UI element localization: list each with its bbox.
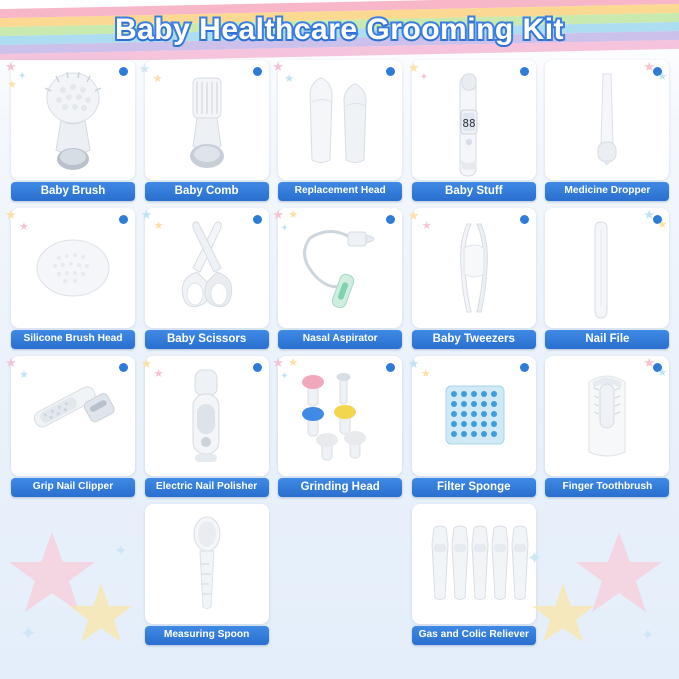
product-card[interactable] (545, 208, 669, 328)
spacer-cell (541, 502, 673, 648)
product-label: Nasal Aspirator (278, 330, 402, 349)
gas-colic-reliever-icon (412, 504, 536, 624)
product-cell[interactable]: Finger Toothbrush ★ ★ (541, 354, 673, 500)
product-row: Grip Nail Clipper ★ ★ Electric Nail Poli… (6, 354, 674, 502)
medicine-dropper-icon (545, 60, 669, 180)
product-card[interactable] (145, 504, 269, 624)
blue-dot-marker (520, 67, 529, 76)
product-cell[interactable]: Replacement Head ★ ★ (274, 58, 406, 204)
product-card[interactable] (145, 60, 269, 180)
baby-tweezers-icon (412, 208, 536, 328)
grinding-head-icon (278, 356, 402, 476)
product-grid: Baby Brush ★ ✦ ★ (6, 58, 674, 650)
product-card[interactable] (145, 208, 269, 328)
product-card[interactable] (278, 356, 402, 476)
product-label: Electric Nail Polisher (145, 478, 269, 497)
product-card[interactable] (412, 356, 536, 476)
product-label: Medicine Dropper (545, 182, 669, 201)
product-label: Nail File (545, 330, 669, 349)
product-label: Finger Toothbrush (545, 478, 669, 497)
product-label: Baby Brush (11, 182, 135, 201)
blue-dot-marker (520, 215, 529, 224)
blue-dot-marker (119, 215, 128, 224)
product-label: Silicone Brush Head (11, 330, 135, 349)
product-label: Filter Sponge (412, 478, 536, 497)
product-cell[interactable]: Silicone Brush Head ★ ★ (7, 206, 139, 352)
blue-dot-marker (253, 215, 262, 224)
product-card[interactable] (412, 504, 536, 624)
product-cell[interactable]: Medicine Dropper ★ ★ (541, 58, 673, 204)
blue-dot-marker (520, 363, 529, 372)
product-row: Baby Brush ★ ✦ ★ (6, 58, 674, 206)
silicone-brush-head-icon (11, 208, 135, 328)
product-cell[interactable]: Filter Sponge ★ ★ (408, 354, 540, 500)
nail-file-icon (545, 208, 669, 328)
measuring-spoon-icon (145, 504, 269, 624)
product-cell[interactable]: Grinding Head ★ ★ ✦ (274, 354, 406, 500)
product-label: Measuring Spoon (145, 626, 269, 645)
product-row: Measuring Spoon (6, 502, 674, 650)
product-cell[interactable]: Gas and Colic Reliever (408, 502, 540, 648)
replacement-head-icon (278, 60, 402, 180)
product-cell[interactable]: 88 Baby Stuff ★ ✦ (408, 58, 540, 204)
electric-nail-polisher-icon (145, 356, 269, 476)
product-label: Gas and Colic Reliever (412, 626, 536, 645)
product-cell[interactable]: Baby Scissors ★ ★ (141, 206, 273, 352)
product-label: Baby Tweezers (412, 330, 536, 349)
baby-comb-icon (145, 60, 269, 180)
product-card[interactable] (545, 356, 669, 476)
blue-dot-marker (119, 363, 128, 372)
product-cell[interactable]: Baby Brush ★ ✦ ★ (7, 58, 139, 204)
product-label: Baby Comb (145, 182, 269, 201)
product-cell[interactable]: Nasal Aspirator ★ ★ ✦ (274, 206, 406, 352)
product-cell[interactable]: Baby Comb ★ ★ (141, 58, 273, 204)
digital-thermometer-icon: 88 (412, 60, 536, 180)
product-cell[interactable]: Baby Tweezers ★ ★ (408, 206, 540, 352)
blue-dot-marker (119, 67, 128, 76)
product-label: Grinding Head (278, 478, 402, 497)
product-label: Replacement Head (278, 182, 402, 201)
grip-nail-clipper-icon (11, 356, 135, 476)
blue-dot-marker (253, 67, 262, 76)
product-cell[interactable]: Electric Nail Polisher ★ ★ (141, 354, 273, 500)
product-card[interactable] (145, 356, 269, 476)
page-title-container: Baby Healthcare Grooming Kit (0, 8, 679, 52)
spacer-cell (274, 502, 406, 648)
baby-scissors-icon (145, 208, 269, 328)
baby-brush-icon (11, 60, 135, 180)
svg-text:88: 88 (462, 117, 475, 130)
blue-dot-marker (253, 363, 262, 372)
product-card[interactable] (545, 60, 669, 180)
product-card[interactable] (278, 208, 402, 328)
product-label: Baby Stuff (412, 182, 536, 201)
product-card[interactable] (11, 208, 135, 328)
product-cell[interactable]: Grip Nail Clipper ★ ★ (7, 354, 139, 500)
product-row: Silicone Brush Head ★ ★ Baby Scissors (6, 206, 674, 354)
product-cell[interactable]: Measuring Spoon (141, 502, 273, 648)
product-card[interactable] (11, 356, 135, 476)
page-title: Baby Healthcare Grooming Kit (115, 13, 564, 47)
nasal-aspirator-icon (278, 208, 402, 328)
finger-toothbrush-icon (545, 356, 669, 476)
spacer-cell (7, 502, 139, 648)
product-label: Baby Scissors (145, 330, 269, 349)
product-label: Grip Nail Clipper (11, 478, 135, 497)
product-cell[interactable]: Nail File ★ ★ (541, 206, 673, 352)
filter-sponge-icon (412, 356, 536, 476)
product-card[interactable]: 88 (412, 60, 536, 180)
product-card[interactable] (278, 60, 402, 180)
product-card[interactable] (11, 60, 135, 180)
product-card[interactable] (412, 208, 536, 328)
